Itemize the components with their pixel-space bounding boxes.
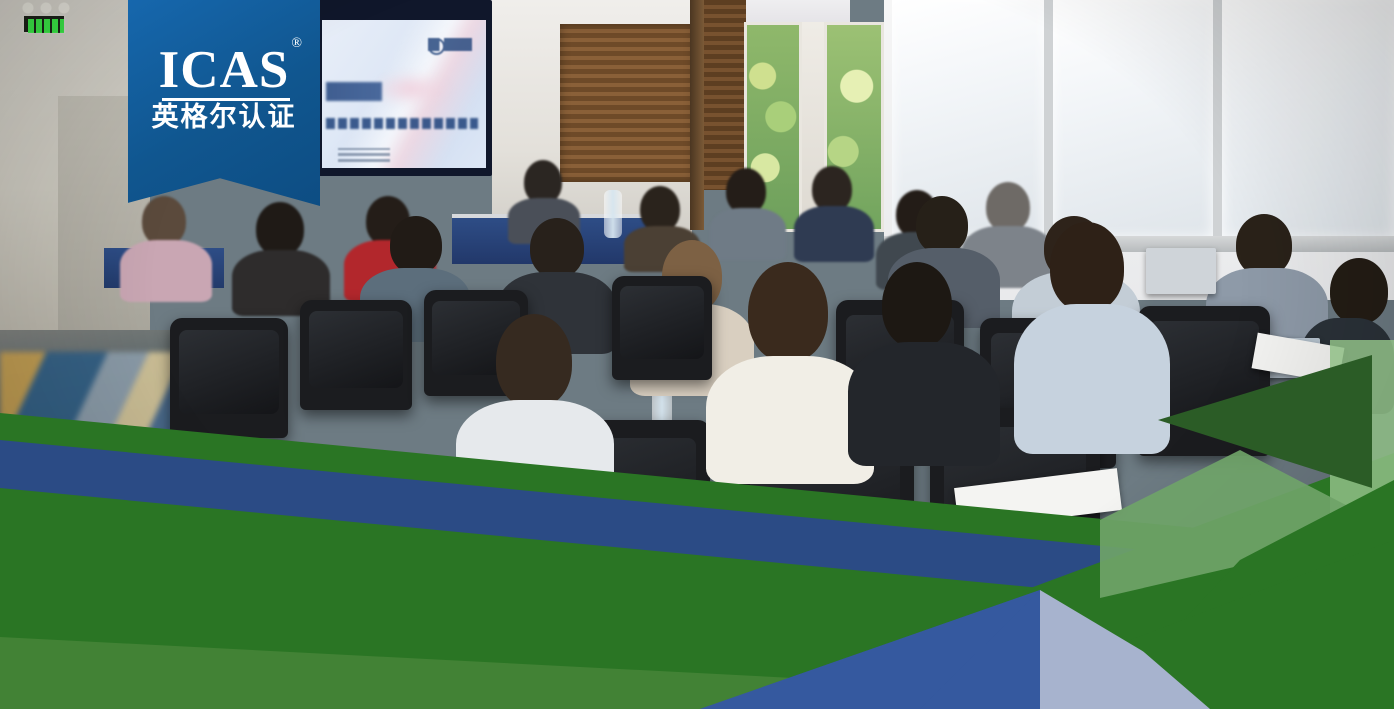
registered-trademark-icon: ® <box>291 36 302 52</box>
banner-canvas: ICAS ® 英格尔认证 <box>0 0 1394 709</box>
brand-divider <box>162 98 290 101</box>
brand-lockup: ICAS ® 英格尔认证 <box>128 0 320 206</box>
brand-chinese-name: 英格尔认证 <box>128 102 320 134</box>
brand-plate: ICAS ® 英格尔认证 <box>128 0 320 206</box>
